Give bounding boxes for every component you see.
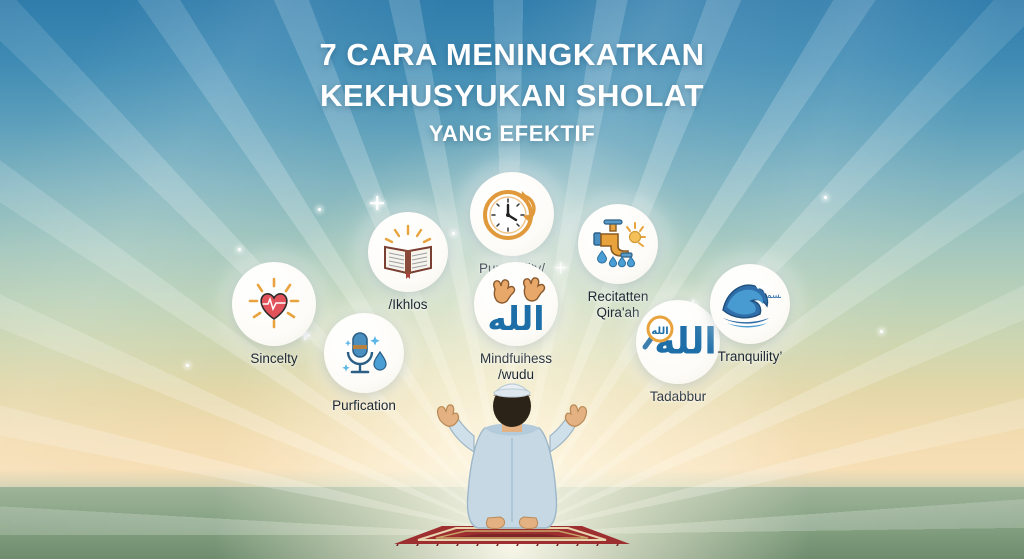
sparkle-icon xyxy=(370,196,384,210)
ocean-wave-icon: بسم xyxy=(719,276,781,332)
title-line-2: KEKHUSYUKAN SHOLAT xyxy=(0,75,1024,116)
node-ikhlas[interactable]: /Ikhlos xyxy=(368,212,448,313)
clock-arrow-icon xyxy=(480,184,544,244)
svg-text:الله: الله xyxy=(651,326,668,337)
praying-man xyxy=(382,376,642,551)
sparkle-icon xyxy=(186,364,189,367)
label-sincerity: Sincelty xyxy=(250,351,297,367)
prayer-rug xyxy=(394,526,630,546)
node-tadabbur[interactable]: الله الله Tadabbur xyxy=(636,300,720,405)
bubble-mindfulness: الله xyxy=(474,262,558,346)
right-foot xyxy=(520,517,538,529)
bubble-punctuality xyxy=(470,172,554,256)
title-line-1: 7 CARA MENINGKATKAN xyxy=(0,34,1024,75)
title-subtitle: YANG EFEKTIF xyxy=(0,121,1024,147)
faucet-droplets-icon xyxy=(588,215,648,273)
sparkle-icon xyxy=(824,196,827,199)
left-foot xyxy=(486,517,504,529)
right-hand xyxy=(565,405,586,426)
left-hand xyxy=(438,405,459,426)
praying-man-illustration xyxy=(382,376,642,546)
arabic-allah-text: الله xyxy=(487,302,544,335)
bubble-tranquility: بسم xyxy=(710,264,790,344)
label-ikhlas: /Ikhlos xyxy=(388,297,427,313)
bubble-sincerity xyxy=(232,262,316,346)
sparkle-icon xyxy=(318,208,321,211)
bubble-ikhlas xyxy=(368,212,448,292)
sparkle-icon xyxy=(238,248,241,251)
node-sincerity[interactable]: Sincelty xyxy=(232,262,316,367)
sparkle-icon xyxy=(880,330,883,333)
node-tranquility[interactable]: بسم Tranquility’ xyxy=(710,264,790,365)
label-tadabbur: Tadabbur xyxy=(650,389,706,405)
node-mindfulness[interactable]: الله Mindfuihess /wudu xyxy=(474,262,558,383)
label-tranquility: Tranquility’ xyxy=(718,349,783,365)
bubble-recitation xyxy=(578,204,658,284)
infographic-canvas: 7 CARA MENINGKATKAN KEKHUSYUKAN SHOLAT Y… xyxy=(0,0,1024,559)
open-book-icon xyxy=(378,223,438,281)
magnifier-allah-icon: الله xyxy=(640,314,680,354)
microphone-droplet-icon xyxy=(335,324,393,382)
svg-text:بسم: بسم xyxy=(766,291,781,301)
sparkle-icon xyxy=(452,232,455,235)
heart-rays-icon xyxy=(244,274,304,334)
bubble-tadabbur: الله الله xyxy=(636,300,720,384)
raised-hand-right xyxy=(524,278,545,301)
title-block: 7 CARA MENINGKATKAN KEKHUSYUKAN SHOLAT Y… xyxy=(0,34,1024,147)
